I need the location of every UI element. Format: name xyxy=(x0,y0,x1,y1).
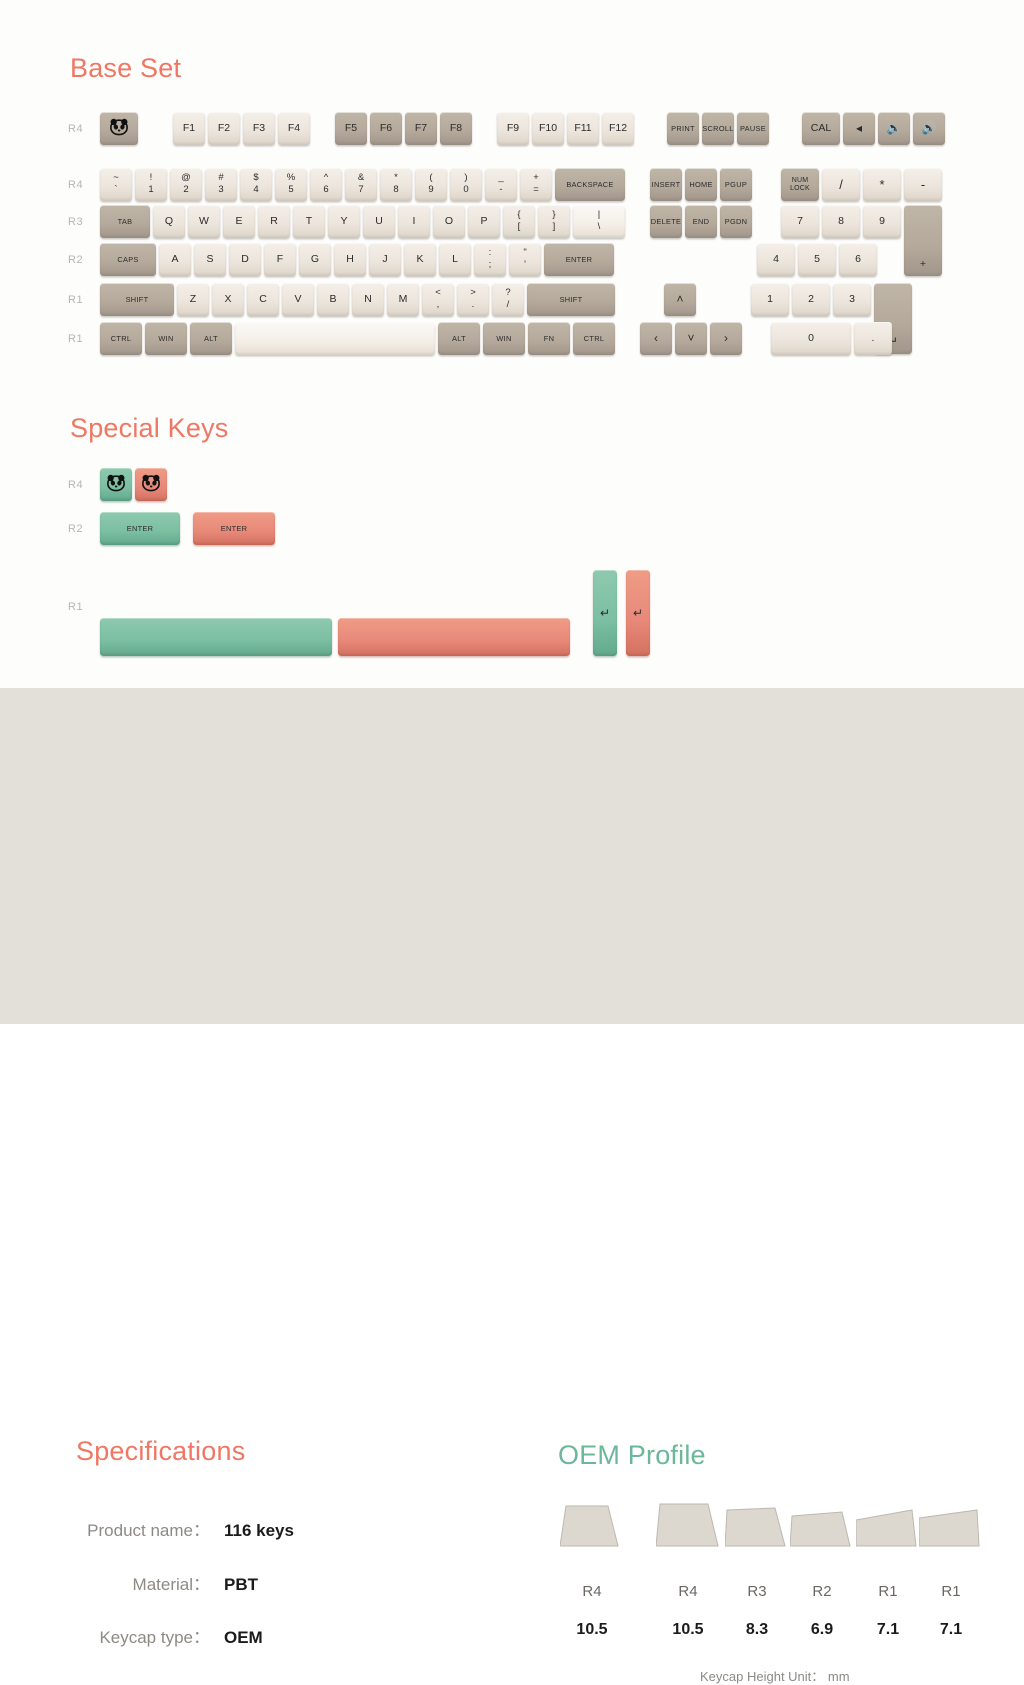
profile-height-3: 6.9 xyxy=(792,1621,852,1639)
key-cal[interactable]: CAL xyxy=(802,112,840,145)
key-legend: 8 xyxy=(838,216,844,227)
key-legend: WIN xyxy=(496,335,511,343)
key-4[interactable]: $4 xyxy=(240,168,272,201)
special-keys-row-0 xyxy=(100,468,170,501)
key-legend-primary: 2 xyxy=(183,185,188,196)
key-q[interactable]: Q xyxy=(153,205,185,238)
key-f10[interactable]: F10 xyxy=(532,112,564,145)
key-[interactable]: += xyxy=(520,168,552,201)
key-legend-shifted: % xyxy=(287,173,295,184)
profile-row-name-1: R4 xyxy=(658,1583,718,1600)
key-2[interactable]: 2 xyxy=(792,283,830,316)
key-ctrl[interactable]: CTRL xyxy=(573,322,615,355)
key-legend: CTRL xyxy=(111,335,132,343)
volume-up-icon: 🔊 xyxy=(922,122,937,135)
key-shift[interactable]: SHIFT xyxy=(100,283,174,316)
panda-icon xyxy=(141,473,161,496)
key-[interactable]: * xyxy=(863,168,901,201)
special-keys-heading: Special Keys xyxy=(70,413,228,444)
key-legend-shifted: { xyxy=(517,210,520,221)
special-keys-row-1: ENTERENTER xyxy=(100,512,278,545)
arrow-down-icon[interactable]: ˅ xyxy=(675,322,707,355)
numpad-enter-icon: ↵ xyxy=(633,607,643,620)
key-legend: 2 xyxy=(808,294,814,305)
key-a[interactable]: A xyxy=(159,243,191,276)
key-f7[interactable]: F7 xyxy=(405,112,437,145)
key-legend: TAB xyxy=(118,218,133,226)
key-legend: F11 xyxy=(574,123,591,134)
key-legend-shifted: & xyxy=(358,173,364,184)
special-keys-row-2: ↵↵ xyxy=(100,570,653,656)
key-f1[interactable]: F1 xyxy=(173,112,205,145)
key-legend-primary: . xyxy=(472,300,475,311)
volume-mute-icon[interactable]: ◂ xyxy=(843,112,875,145)
key-legend-shifted: + xyxy=(533,173,539,184)
profile-row-name-4: R1 xyxy=(858,1583,918,1600)
profile-height-2: 8.3 xyxy=(727,1621,787,1639)
key-caps[interactable]: CAPS xyxy=(100,243,156,276)
key-legend: C xyxy=(259,294,267,305)
key-legend: 9 xyxy=(879,216,885,227)
keyboard-row-3: CAPSASDFGHJKL:;"'ENTER456 xyxy=(100,243,880,276)
key-legend: PAUSE xyxy=(740,125,766,133)
key-legend: INSERT xyxy=(652,181,681,189)
key-pgdn[interactable]: PGDN xyxy=(720,205,752,238)
volume-up-icon[interactable]: 🔊 xyxy=(913,112,945,145)
key-delete[interactable]: DELETE xyxy=(650,205,682,238)
key-home[interactable]: HOME xyxy=(685,168,717,201)
key-legend: U xyxy=(375,216,383,227)
key-legend-shifted: * xyxy=(394,173,398,184)
key-8[interactable]: 8 xyxy=(822,205,860,238)
key-legend-shifted: @ xyxy=(181,173,191,184)
key-3[interactable]: 3 xyxy=(833,283,871,316)
key-legend: . xyxy=(872,333,875,344)
key-4[interactable]: 4 xyxy=(757,243,795,276)
key-[interactable]: {[ xyxy=(503,205,535,238)
key-[interactable]: ~` xyxy=(100,168,132,201)
key-legend: R xyxy=(270,216,278,227)
key-8[interactable]: *8 xyxy=(380,168,412,201)
key-legend: ALT xyxy=(452,335,466,343)
key-legend: F xyxy=(277,254,283,265)
key-win[interactable]: WIN xyxy=(145,322,187,355)
arrow-up-icon: ˄ xyxy=(676,293,683,306)
specs-panel: Specifications Product name：116 keysMate… xyxy=(0,688,1024,1024)
spec-value: 116 keys xyxy=(224,1521,294,1541)
spec-row-1: Material：PBT xyxy=(40,1570,370,1595)
key-legend: W xyxy=(199,216,209,227)
key-legend-primary: [ xyxy=(518,222,521,233)
key-legend-primary: ` xyxy=(114,185,117,196)
key-legend: M xyxy=(399,294,408,305)
key-5[interactable]: 5 xyxy=(798,243,836,276)
key-legend: J xyxy=(382,254,387,265)
key-legend-shifted: < xyxy=(435,288,441,299)
key-legend: PGDN xyxy=(725,218,748,226)
key-pause[interactable]: PAUSE xyxy=(737,112,769,145)
key-enter[interactable]: ENTER xyxy=(193,512,275,545)
key-legend-primary: / xyxy=(507,300,510,311)
key-legend-shifted: ! xyxy=(150,173,153,184)
key-win[interactable]: WIN xyxy=(483,322,525,355)
key-legend-shifted: : xyxy=(489,248,492,259)
key-j[interactable]: J xyxy=(369,243,401,276)
key-legend: HOME xyxy=(689,181,712,189)
key-legend-primary: - xyxy=(499,185,502,196)
special-row-label-2: R1 xyxy=(68,601,94,613)
numpad-enter-icon[interactable]: ↵ xyxy=(593,570,617,656)
key-m[interactable]: M xyxy=(387,283,419,316)
profile-shape-2 xyxy=(725,1500,791,1555)
key-6[interactable]: ^6 xyxy=(310,168,342,201)
key-legend: F4 xyxy=(288,123,300,134)
key-legend: END xyxy=(693,218,710,226)
key-f11[interactable]: F11 xyxy=(567,112,599,145)
panda-icon xyxy=(109,117,129,140)
key-legend-shifted: ) xyxy=(464,173,467,184)
key-ctrl[interactable]: CTRL xyxy=(100,322,142,355)
key-legend: P xyxy=(480,216,487,227)
key-legend-shifted: # xyxy=(218,173,223,184)
key-h[interactable]: H xyxy=(334,243,366,276)
key-w[interactable]: W xyxy=(188,205,220,238)
key-legend: WIN xyxy=(158,335,173,343)
key-f8[interactable]: F8 xyxy=(440,112,472,145)
key-g[interactable]: G xyxy=(299,243,331,276)
key-legend: NUMLOCK xyxy=(790,177,810,192)
key-f4[interactable]: F4 xyxy=(278,112,310,145)
base-set-heading: Base Set xyxy=(70,53,181,84)
key-x[interactable]: X xyxy=(212,283,244,316)
key-legend: Y xyxy=(340,216,347,227)
key-legend-primary: ] xyxy=(553,222,556,233)
key-legend: BACKSPACE xyxy=(566,181,613,189)
base-set-panel: Base Set R4F1F2F3F4F5F6F7F8F9F10F11F12PR… xyxy=(0,0,1024,688)
key-legend: 4 xyxy=(773,254,779,265)
key-[interactable]: }] xyxy=(538,205,570,238)
key-legend: G xyxy=(311,254,319,265)
keyboard-row-1: ~`!1@2#3$4%5^6&7*8(9)0_-+=BACKSPACEINSER… xyxy=(100,168,945,201)
key-legend-shifted: > xyxy=(470,288,476,299)
key-legend: SCROLL xyxy=(702,125,733,133)
key-legend-primary: 9 xyxy=(428,185,433,196)
key-legend: K xyxy=(416,254,423,265)
key-legend: F3 xyxy=(253,123,265,134)
key-legend: * xyxy=(879,178,884,192)
key-legend: F2 xyxy=(218,123,230,134)
key-legend: E xyxy=(235,216,242,227)
key-f2[interactable]: F2 xyxy=(208,112,240,145)
row-label-r1-4: R1 xyxy=(68,294,94,306)
panda-icon[interactable] xyxy=(100,468,132,501)
key-legend-primary: 1 xyxy=(148,185,153,196)
key-f5[interactable]: F5 xyxy=(335,112,367,145)
key-legend: ENTER xyxy=(127,525,154,533)
key-legend: SHIFT xyxy=(560,296,583,304)
key-f12[interactable]: F12 xyxy=(602,112,634,145)
key-legend: S xyxy=(206,254,213,265)
key-legend: 3 xyxy=(849,294,855,305)
key-legend: 7 xyxy=(797,216,803,227)
key-blank[interactable] xyxy=(100,618,332,656)
key-alt[interactable]: ALT xyxy=(438,322,480,355)
key-legend-primary: 4 xyxy=(253,185,258,196)
key-7[interactable]: &7 xyxy=(345,168,377,201)
key-legend: A xyxy=(171,254,178,265)
profile-shape-diagram xyxy=(556,1500,996,1560)
arrow-right-icon[interactable]: › xyxy=(710,322,742,355)
key-legend: T xyxy=(306,216,312,227)
spec-value: OEM xyxy=(224,1628,263,1648)
key-enter[interactable]: ENTER xyxy=(100,512,180,545)
key-v[interactable]: V xyxy=(282,283,314,316)
key-legend-shifted: ? xyxy=(505,288,510,299)
key-t[interactable]: T xyxy=(293,205,325,238)
key-[interactable]: + xyxy=(904,205,942,276)
key-c[interactable]: C xyxy=(247,283,279,316)
profile-row-name-2: R3 xyxy=(727,1583,787,1600)
spec-value: PBT xyxy=(224,1575,258,1595)
key-z[interactable]: Z xyxy=(177,283,209,316)
profile-shape-4 xyxy=(856,1500,922,1555)
key-tab[interactable]: TAB xyxy=(100,205,150,238)
key-0[interactable]: 0 xyxy=(771,322,851,355)
key-legend: B xyxy=(329,294,336,305)
key-legend: F10 xyxy=(539,123,557,134)
key-alt[interactable]: ALT xyxy=(190,322,232,355)
key-legend: F7 xyxy=(415,123,427,134)
key-n[interactable]: N xyxy=(352,283,384,316)
key-legend-shifted: ^ xyxy=(324,173,328,184)
row-label-r4-1: R4 xyxy=(68,179,94,191)
key-p[interactable]: P xyxy=(468,205,500,238)
key-f3[interactable]: F3 xyxy=(243,112,275,145)
key-[interactable]: |\ xyxy=(573,205,625,238)
key-9[interactable]: 9 xyxy=(863,205,901,238)
key-legend: O xyxy=(445,216,453,227)
oem-profile-heading: OEM Profile xyxy=(558,1440,706,1471)
key-shift[interactable]: SHIFT xyxy=(527,283,615,316)
profile-row-name-0: R4 xyxy=(562,1583,622,1600)
spec-label: Keycap type： xyxy=(40,1623,210,1648)
key-legend: Q xyxy=(165,216,173,227)
key-legend-primary: 6 xyxy=(323,185,328,196)
key-backspace[interactable]: BACKSPACE xyxy=(555,168,625,201)
key-2[interactable]: @2 xyxy=(170,168,202,201)
key-1[interactable]: !1 xyxy=(135,168,167,201)
key-7[interactable]: 7 xyxy=(781,205,819,238)
profile-height-0: 10.5 xyxy=(562,1621,622,1639)
key-legend-primary: 5 xyxy=(288,185,293,196)
keyboard-row-0: F1F2F3F4F5F6F7F8F9F10F11F12PRINTSCROLLPA… xyxy=(100,112,948,145)
key-num-lock[interactable]: NUMLOCK xyxy=(781,168,819,201)
spec-label: Product name： xyxy=(40,1516,210,1541)
key-legend: H xyxy=(346,254,354,265)
spec-row-2: Keycap type：OEM xyxy=(40,1623,370,1648)
profile-shape-3 xyxy=(790,1500,856,1555)
key-b[interactable]: B xyxy=(317,283,349,316)
key-legend-shifted: $ xyxy=(253,173,258,184)
arrow-left-icon: ‹ xyxy=(654,332,658,345)
key-legend: L xyxy=(452,254,458,265)
key-0[interactable]: )0 xyxy=(450,168,482,201)
row-label-r1-5: R1 xyxy=(68,333,94,345)
key-legend: ENTER xyxy=(566,256,593,264)
key-legend: PRINT xyxy=(671,125,695,133)
key-5[interactable]: %5 xyxy=(275,168,307,201)
key-legend: X xyxy=(224,294,231,305)
panda-icon xyxy=(106,473,126,496)
key-insert[interactable]: INSERT xyxy=(650,168,682,201)
profile-row-name-5: R1 xyxy=(921,1583,981,1600)
key-legend: I xyxy=(413,216,416,227)
key-legend: FN xyxy=(544,335,554,343)
key-l[interactable]: L xyxy=(439,243,471,276)
key-3[interactable]: #3 xyxy=(205,168,237,201)
key-legend: Z xyxy=(190,294,196,305)
spec-row-0: Product name：116 keys xyxy=(40,1516,370,1541)
key-legend-primary: = xyxy=(533,185,539,196)
key-legend: F12 xyxy=(609,123,627,134)
keycap-height-unit-note: Keycap Height Unit： mm xyxy=(700,1666,850,1685)
special-row-label-1: R2 xyxy=(68,523,94,535)
key-legend-primary: 3 xyxy=(218,185,223,196)
key-legend: ALT xyxy=(204,335,218,343)
key-9[interactable]: (9 xyxy=(415,168,447,201)
key-legend: D xyxy=(241,254,249,265)
key-legend: 0 xyxy=(808,333,814,344)
key-legend: - xyxy=(921,178,925,192)
arrow-right-icon: › xyxy=(724,332,728,345)
profile-shape-0 xyxy=(560,1500,626,1555)
key-legend: CTRL xyxy=(584,335,605,343)
key-legend: DELETE xyxy=(651,218,682,226)
key-enter[interactable]: ENTER xyxy=(544,243,614,276)
key-legend-primary: , xyxy=(437,300,440,311)
key-f6[interactable]: F6 xyxy=(370,112,402,145)
panda-icon[interactable] xyxy=(100,112,138,145)
panda-icon[interactable] xyxy=(135,468,167,501)
key-e[interactable]: E xyxy=(223,205,255,238)
profile-height-5: 7.1 xyxy=(921,1621,981,1639)
key-legend: F6 xyxy=(380,123,392,134)
numpad-enter-icon[interactable]: ↵ xyxy=(626,570,650,656)
key-1[interactable]: 1 xyxy=(751,283,789,316)
key-blank[interactable] xyxy=(235,322,435,355)
volume-down-icon: 🔈 xyxy=(887,122,902,135)
volume-down-icon[interactable]: 🔈 xyxy=(878,112,910,145)
key-6[interactable]: 6 xyxy=(839,243,877,276)
key-legend: F1 xyxy=(183,123,195,134)
key-legend: V xyxy=(294,294,301,305)
key-legend-primary: 8 xyxy=(393,185,398,196)
key-legend-shifted: " xyxy=(523,248,526,259)
key-[interactable]: / xyxy=(822,168,860,201)
row-label-r3-2: R3 xyxy=(68,216,94,228)
key-pgup[interactable]: PGUP xyxy=(720,168,752,201)
key-legend-shifted: | xyxy=(598,210,600,221)
key-legend-primary: ' xyxy=(524,260,526,271)
key-legend-primary: \ xyxy=(598,222,601,233)
key-o[interactable]: O xyxy=(433,205,465,238)
key-legend: PGUP xyxy=(725,181,747,189)
key-legend: F5 xyxy=(345,123,357,134)
key-scroll[interactable]: SCROLL xyxy=(702,112,734,145)
arrow-up-icon[interactable]: ˄ xyxy=(664,283,696,316)
key-legend: 5 xyxy=(814,254,820,265)
key-d[interactable]: D xyxy=(229,243,261,276)
key-legend-shifted: } xyxy=(552,210,555,221)
profile-height-4: 7.1 xyxy=(858,1621,918,1639)
key-[interactable]: - xyxy=(904,168,942,201)
key-legend-shifted: ( xyxy=(429,173,432,184)
volume-mute-icon: ◂ xyxy=(856,122,862,135)
key-legend: N xyxy=(364,294,372,305)
key-end[interactable]: END xyxy=(685,205,717,238)
key-r[interactable]: R xyxy=(258,205,290,238)
row-label-r4-0: R4 xyxy=(68,123,94,135)
key-f[interactable]: F xyxy=(264,243,296,276)
key-legend: ENTER xyxy=(221,525,248,533)
key-legend: + xyxy=(920,259,926,270)
key-[interactable]: "' xyxy=(509,243,541,276)
spec-label: Material： xyxy=(40,1570,210,1595)
specifications-heading: Specifications xyxy=(76,1436,245,1467)
key-i[interactable]: I xyxy=(398,205,430,238)
key-[interactable]: <, xyxy=(422,283,454,316)
key-u[interactable]: U xyxy=(363,205,395,238)
key-k[interactable]: K xyxy=(404,243,436,276)
profile-row-name-3: R2 xyxy=(792,1583,852,1600)
key-legend-primary: 7 xyxy=(358,185,363,196)
profile-height-1: 10.5 xyxy=(658,1621,718,1639)
key-fn[interactable]: FN xyxy=(528,322,570,355)
profile-shape-1 xyxy=(656,1500,722,1555)
key-legend-primary: 0 xyxy=(463,185,468,196)
numpad-enter-icon: ↵ xyxy=(600,607,610,620)
key-legend: 1 xyxy=(767,294,773,305)
key-[interactable]: >. xyxy=(457,283,489,316)
key-[interactable]: . xyxy=(854,322,892,355)
arrow-down-icon: ˅ xyxy=(687,332,694,345)
key-legend: F9 xyxy=(507,123,519,134)
key-legend: CAPS xyxy=(117,256,138,264)
special-row-label-0: R4 xyxy=(68,479,94,491)
key-[interactable]: _- xyxy=(485,168,517,201)
row-label-r2-3: R2 xyxy=(68,254,94,266)
key-[interactable]: :; xyxy=(474,243,506,276)
keyboard-row-5: CTRLWINALTALTWINFNCTRL‹˅›0. xyxy=(100,322,895,355)
key-print[interactable]: PRINT xyxy=(667,112,699,145)
key-legend-shifted: ~ xyxy=(113,173,119,184)
key-legend-primary: ; xyxy=(489,260,492,271)
key-legend: F8 xyxy=(450,123,462,134)
arrow-left-icon[interactable]: ‹ xyxy=(640,322,672,355)
profile-shape-5 xyxy=(919,1500,985,1555)
key-legend-shifted: _ xyxy=(498,173,503,184)
key-[interactable]: ?/ xyxy=(492,283,524,316)
key-s[interactable]: S xyxy=(194,243,226,276)
key-legend: CAL xyxy=(811,123,831,134)
key-legend: 6 xyxy=(855,254,861,265)
key-legend: SHIFT xyxy=(126,296,149,304)
key-f9[interactable]: F9 xyxy=(497,112,529,145)
key-y[interactable]: Y xyxy=(328,205,360,238)
key-blank[interactable] xyxy=(338,618,570,656)
key-legend: / xyxy=(839,178,843,192)
